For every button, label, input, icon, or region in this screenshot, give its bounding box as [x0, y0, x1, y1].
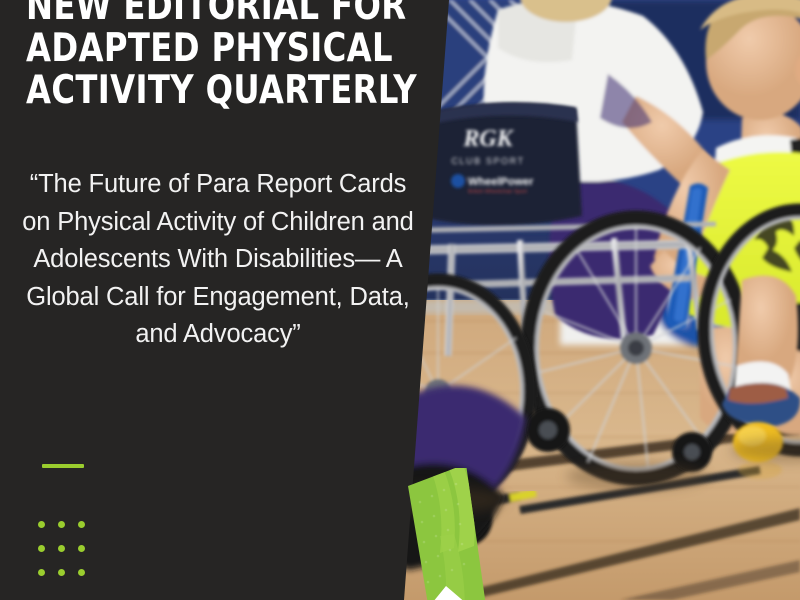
svg-text:RGK: RGK	[462, 126, 514, 152]
grid-dot	[58, 545, 65, 552]
grid-dot	[58, 521, 65, 528]
headline-line-3: ACTIVITY QUARTERLY	[26, 70, 405, 112]
grid-dot	[38, 521, 45, 528]
svg-text:British Wheelchair Sport: British Wheelchair Sport	[468, 189, 527, 195]
grid-dot	[58, 569, 65, 576]
svg-text:CLUB SPORT: CLUB SPORT	[451, 156, 524, 166]
grid-dot	[38, 545, 45, 552]
green-dot-grid	[38, 521, 98, 593]
green-accent-rule	[42, 464, 84, 468]
editorial-quote: “The Future of Para Report Cards on Phys…	[22, 166, 414, 354]
poster-canvas: RGK CLUB SPORT WheelPower British Wheelc…	[0, 0, 800, 600]
grid-dot	[78, 569, 85, 576]
grid-dot	[38, 569, 45, 576]
headline-line-2: ADAPTED PHYSICAL	[26, 28, 405, 70]
page-title: NEW EDITORIAL FOR ADAPTED PHYSICAL ACTIV…	[26, 0, 405, 112]
headline-line-1: NEW EDITORIAL FOR	[26, 0, 405, 28]
grid-dot	[78, 545, 85, 552]
svg-text:WheelPower: WheelPower	[468, 176, 534, 188]
grid-dot	[78, 521, 85, 528]
